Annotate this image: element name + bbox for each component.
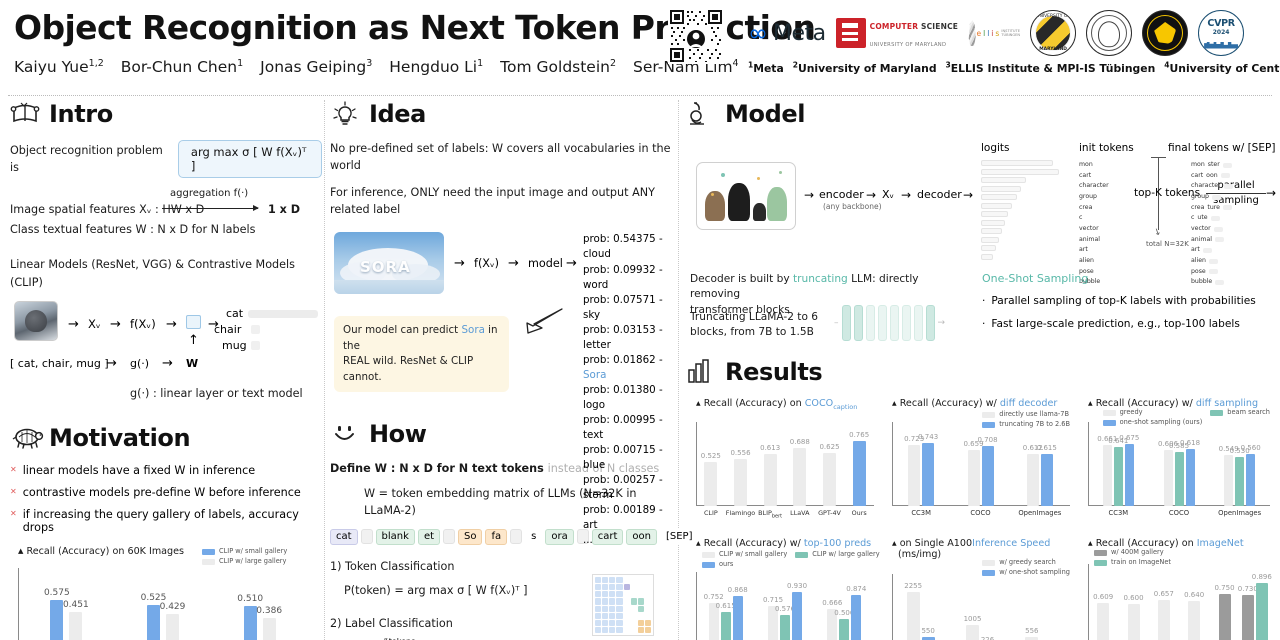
- mask-cell: [616, 613, 622, 619]
- mask-cell: [631, 627, 637, 633]
- prediction-row: prob: 0.07571 - sky: [583, 293, 672, 323]
- mask-cell: [602, 577, 608, 583]
- init-token: vector: [1079, 224, 1109, 235]
- mask-cell: [616, 620, 622, 626]
- mask-cell: [638, 613, 644, 619]
- legend-item: CLIP w/ large gallery: [202, 557, 287, 567]
- meta-logo: ∞ Meta: [748, 9, 826, 57]
- legend-label: greedy: [1120, 408, 1143, 418]
- chart-bar: 2255: [907, 592, 920, 640]
- section-header-intro: Intro: [10, 100, 322, 128]
- final-token-a: cart: [1191, 171, 1203, 182]
- model-total-label: total N=32K: [1146, 240, 1189, 248]
- motivation-bullet: ✕linear models have a fixed W in inferen…: [10, 464, 322, 477]
- oneshot-bullet: ·Fast large-scale prediction, e.g., top-…: [982, 318, 1256, 330]
- mask-cell: [645, 606, 651, 612]
- model-backbone-note: (any backbone): [823, 202, 882, 211]
- final-token-a: mon: [1191, 160, 1205, 171]
- attention-mask-figure: non-causal attention mask in transformer: [592, 574, 672, 640]
- bar-group: 0.5250.429COCO: [147, 605, 179, 640]
- arrow-icon: →: [1266, 186, 1276, 200]
- init-token: crea: [1079, 203, 1109, 214]
- final-token-a: vector: [1191, 224, 1211, 235]
- init-token: animal: [1079, 235, 1109, 246]
- chart-bar: 0.525: [704, 462, 717, 506]
- bar-group: 0.625GPT-4V: [823, 453, 836, 506]
- bar-value-label: 0.386: [256, 606, 282, 616]
- logit-bar: [981, 228, 1002, 234]
- bar-value-label: 0.765: [849, 431, 869, 439]
- bar-group: 0.6660.5060.874OpenImages: [827, 595, 861, 640]
- bar-group: 0.600Flamingo: [1128, 604, 1140, 640]
- bar-value-label: 550: [921, 627, 934, 635]
- mask-cell: [638, 606, 644, 612]
- mask-cell: [645, 620, 651, 626]
- token-pill-icon: [1224, 184, 1233, 189]
- affiliation-item: 3ELLIS Institute & MPI-IS Tübingen: [946, 62, 1156, 75]
- logit-bar: [981, 186, 1021, 192]
- x-axis-label: COCO: [970, 509, 990, 517]
- mask-cell: [638, 620, 644, 626]
- mask-cell: [616, 577, 622, 583]
- chart-bar: 0.708: [982, 446, 994, 506]
- bar-value-label: 0.708: [977, 436, 997, 444]
- monsters-image: [696, 162, 796, 230]
- bar-value-label: 0.896: [1252, 573, 1272, 581]
- token-pill-icon: [1221, 173, 1230, 178]
- bullet-dot-icon: ✕: [10, 464, 17, 477]
- mask-cell: [609, 613, 615, 619]
- legend-label: ours: [719, 560, 733, 570]
- bar-group: 0.556Flamingo: [734, 459, 747, 506]
- section-title-how: How: [369, 420, 427, 448]
- y-axis-arrow-icon: ▲: [696, 540, 701, 547]
- logit-bar: [981, 160, 1053, 166]
- chart-title-highlight: Inference Speed: [972, 538, 1050, 549]
- legend-item: greedy: [1103, 408, 1203, 418]
- chart-imagenet: ▲ Recall (Accuracy) on ImageNetw/ 400M g…: [1080, 538, 1276, 640]
- idea-line1-a: No pre-defined set of labels: [330, 142, 485, 155]
- arrow-icon: →: [166, 317, 177, 332]
- y-axis-arrow-icon: ▲: [18, 547, 23, 555]
- y-axis-arrow-icon: ▲: [696, 400, 701, 407]
- affiliation-list: 1Meta2University of Maryland3ELLIS Insti…: [748, 60, 1278, 75]
- prediction-prob: prob: 0.54375: [583, 233, 656, 245]
- mask-cell: [645, 591, 651, 597]
- bar-group: 0.609CLIP: [1097, 603, 1109, 640]
- affiliation-item: 1Meta: [748, 62, 784, 75]
- mask-cell: [616, 627, 622, 633]
- bullet-dot-icon: ✕: [10, 508, 17, 521]
- chart-plot-area: 0.609CLIP0.600Flamingo0.657BLIPbert0.640…: [1088, 564, 1270, 640]
- section-title-model: Model: [725, 100, 805, 128]
- token-chip: et: [418, 529, 440, 545]
- final-token-b: ture: [1207, 203, 1220, 214]
- chart-bar: 0.600: [1128, 604, 1140, 640]
- chart-title-motivation: Recall (Accuracy) on 60K Images: [26, 546, 184, 557]
- token-chip: So: [458, 529, 482, 545]
- chart-bar: 0.765: [853, 441, 866, 506]
- mask-cell: [595, 598, 601, 604]
- poster-root: Object Recognition as Next Token Predict…: [0, 0, 1280, 640]
- prediction-label: blue: [583, 459, 605, 471]
- legend-swatch: [1103, 410, 1116, 416]
- affiliation-item: 2University of Maryland: [793, 62, 937, 75]
- how-step1-label: 1) Token Classification: [330, 558, 672, 575]
- model-final-tokens-label: final tokens w/ [SEP]: [1168, 142, 1275, 154]
- final-token-b: ster: [1208, 160, 1220, 171]
- prediction-label: sky: [583, 309, 600, 321]
- mask-cell: [645, 598, 651, 604]
- intro-models-line: Linear Models (ResNet, VGG) & Contrastiv…: [10, 256, 322, 291]
- attention-mask-grid: [592, 574, 654, 636]
- y-axis-arrow-icon: ▲: [1088, 400, 1093, 407]
- y-axis-arrow-icon: ▲: [892, 540, 897, 547]
- init-token: c: [1079, 213, 1109, 224]
- bullet-dot-icon: ·: [982, 318, 985, 330]
- final-token-b: ute: [1197, 213, 1207, 224]
- bar-group: 0.6590.708COCO: [968, 446, 994, 506]
- logit-bar: [981, 220, 1005, 226]
- section-title-results: Results: [725, 358, 822, 386]
- chart-title-text: Recall (Accuracy) on: [704, 398, 805, 409]
- x-axis-label: GPT-4V: [818, 509, 841, 517]
- smiley-icon: [330, 420, 360, 448]
- bar-group: 0.7230.743CC3M: [908, 443, 934, 506]
- logo-strip: ∞ Meta COMPUTER SCIENCE UNIVERSITY OF MA…: [748, 6, 1276, 60]
- bar-value-label: 0.930: [787, 582, 807, 590]
- intro-input-list: [ cat, chair, mug ]: [10, 357, 109, 370]
- mask-cell: [595, 620, 601, 626]
- chart-top100-preds: ▲ Recall (Accuracy) w/ top-100 predsCLIP…: [688, 538, 880, 640]
- chart-bar: 0.560: [1246, 454, 1255, 506]
- prediction-row: ...: [583, 533, 672, 548]
- mask-cell: [616, 598, 622, 604]
- legend-item: CLIP w/ small gallery: [702, 550, 787, 560]
- intro-spatial-output: 1 x D: [268, 201, 300, 218]
- final-token-a: animal: [1191, 235, 1212, 246]
- how-eq2-superscript: #tokens: [382, 637, 415, 640]
- arrow-icon: →: [963, 188, 973, 202]
- class-label-chair: chair: [214, 323, 241, 336]
- section-title-motivation: Motivation: [49, 424, 190, 452]
- init-tokens-list: moncartcharactergroupcreacvectoranimalar…: [1079, 160, 1109, 288]
- intro-aggregation-label: aggregation f(·): [170, 188, 248, 199]
- model-encoder-label: encoder: [819, 188, 864, 201]
- up-arrow-icon: ↑: [188, 333, 199, 348]
- legend-label: CLIP w/ large gallery: [812, 550, 879, 560]
- chart-diff-sampling: ▲ Recall (Accuracy) w/ diff samplinggree…: [1080, 398, 1276, 526]
- mask-cell: [645, 627, 651, 633]
- logits-bars: [981, 160, 1067, 262]
- bar-value-label: 0.609: [1093, 593, 1113, 601]
- init-token: alien: [1079, 256, 1109, 267]
- mask-cell: [638, 627, 644, 633]
- legend-swatch: [982, 412, 995, 418]
- bar-group: 0.7520.6150.868CC3M: [709, 596, 743, 640]
- column-right: Model → encoder (any backbone) → Xᵥ → de…: [686, 100, 1276, 640]
- prediction-label: Sora: [583, 369, 606, 381]
- bar-group: 0.613BLIPbert: [764, 454, 777, 506]
- chart-plot-area: 0.6610.6410.675CC3M0.6060.5850.618COCO0.…: [1088, 422, 1270, 506]
- token-pill-icon: [1223, 205, 1232, 210]
- final-token-a: alien: [1191, 256, 1206, 267]
- final-token-row: group: [1191, 192, 1233, 203]
- bar-group: 0.5750.451CC3M: [50, 600, 82, 640]
- x-axis: [696, 505, 874, 506]
- chart-bar: 0.640: [1188, 601, 1200, 640]
- column-divider-1: [324, 100, 325, 640]
- arrow-icon: →: [110, 317, 121, 332]
- model-truncate-line2: blocks, from 7B to 1.5B: [690, 325, 820, 340]
- model-logits-label: logits: [981, 142, 1010, 154]
- affiliation-item: 4University of Central Florida: [1164, 62, 1280, 75]
- logit-bar: [981, 169, 1059, 175]
- chart-bar: 0.730: [1242, 595, 1254, 640]
- bar-group: 0.750CaSED: [1219, 594, 1231, 640]
- mask-cell: [624, 584, 630, 590]
- final-token-row: animal: [1191, 235, 1233, 246]
- bar-value-label: 556: [1025, 627, 1038, 635]
- umd-cs-line1a: COMPUTER: [870, 22, 919, 31]
- final-token-row: character: [1191, 181, 1233, 192]
- prediction-row: prob: 0.00995 - text: [583, 413, 672, 443]
- chart-bar: 0.743: [922, 443, 934, 506]
- chart-bar: 0.750: [1219, 594, 1231, 640]
- idea-prediction-list: prob: 0.54375 - cloudprob: 0.09932 - wor…: [583, 232, 672, 548]
- legend-label: beam search: [1227, 408, 1270, 418]
- section-header-results: Results: [686, 358, 1276, 386]
- idea-flow-fxv: f(Xᵥ): [474, 257, 499, 270]
- chart-bar: 0.615: [1041, 454, 1053, 506]
- prediction-prob: prob: 0.01862: [583, 354, 656, 366]
- mask-cell: [624, 591, 630, 597]
- arrow-icon: →: [508, 256, 519, 271]
- microscope-icon: [686, 100, 716, 128]
- mask-cell: [616, 606, 622, 612]
- bullet-text: Parallel sampling of top-K labels with p…: [991, 295, 1255, 307]
- mask-cell: [631, 584, 637, 590]
- chart-diff-decoder: ▲ Recall (Accuracy) w/ diff decoderdirec…: [884, 398, 1076, 526]
- ellis-logo: ellis INSTITUTE TÜBINGEN: [968, 9, 1020, 57]
- logit-bar: [981, 245, 996, 251]
- arrow-icon: →: [68, 317, 79, 332]
- token-chip: [361, 529, 373, 544]
- model-oneshot-heading: One-Shot Sampling: [982, 272, 1256, 285]
- bar-value-label: 0.525: [701, 452, 721, 460]
- chart-title-highlight: top-100 preds: [804, 538, 871, 549]
- mask-cell: [645, 577, 651, 583]
- bar-value-label: 0.618: [1180, 439, 1200, 447]
- mask-cell: [631, 598, 637, 604]
- chart-title-subscript: caption: [833, 403, 857, 411]
- token-pill-icon: [1223, 163, 1232, 168]
- mask-cell: [609, 606, 615, 612]
- author-name: Hengduo Li1: [389, 58, 483, 76]
- x-axis-label: CC3M: [911, 509, 931, 517]
- bar-value-label: 0.613: [760, 444, 780, 452]
- legend-label: w/ greedy search: [999, 558, 1056, 568]
- final-token-row: cute: [1191, 213, 1233, 224]
- chart-title: ▲ Recall (Accuracy) w/ diff decoder: [892, 398, 1057, 409]
- bar-group: 0.7150.5760.930COCO: [768, 592, 802, 640]
- mask-cell: [638, 577, 644, 583]
- final-token-row: monster: [1191, 160, 1233, 171]
- legend-swatch: [202, 549, 215, 555]
- chart-bar: 0.575: [50, 600, 63, 640]
- arrow-icon: →: [804, 188, 814, 202]
- intro-spatial-features: Image spatial features Xᵥ : HW x D: [10, 201, 204, 218]
- chart-title: ▲ Recall (Accuracy) on COCOcaption: [696, 398, 857, 411]
- intro-w-symbol: W: [186, 357, 198, 370]
- bar-value-label: 0.575: [44, 588, 70, 598]
- chart-bar: 0.657: [1158, 600, 1170, 640]
- cvpr-year: 2024: [1213, 29, 1230, 36]
- bar-value-label: 0.615: [1037, 444, 1057, 452]
- intro-g-note: g(·) : linear layer or text model: [130, 385, 322, 402]
- mask-cell: [638, 598, 644, 604]
- mask-cell: [602, 584, 608, 590]
- idea-note-box: Our model can predict Sora in the REAL w…: [334, 316, 509, 392]
- intro-textual-features: Class textual features W : N x D for N l…: [10, 221, 322, 238]
- bar-value-label: 0.510: [237, 594, 263, 604]
- y-axis: [1088, 564, 1089, 640]
- bullet-dot-icon: ✕: [10, 486, 17, 499]
- legend-swatch: [795, 552, 808, 558]
- token-chip: s: [525, 529, 542, 545]
- x-axis-label: Flamingo: [726, 509, 755, 517]
- bar-group: 0.525CLIP: [704, 462, 717, 506]
- token-pill-icon: [1203, 248, 1212, 253]
- column-left: Intro Object recognition problem is arg …: [10, 100, 322, 640]
- lightbulb-icon: [330, 100, 360, 128]
- final-token-a: group: [1191, 192, 1209, 203]
- idea-note-a: Our model can predict: [343, 324, 462, 336]
- chart-inference-speed: ▲ on Single A100Inference Speed(ms/img)w…: [884, 538, 1076, 640]
- column-middle: Idea No pre-defined set of labels: W cov…: [330, 100, 672, 640]
- logit-bar: [981, 254, 993, 260]
- chart-bar: 0.723: [908, 445, 920, 506]
- chart-bar: 0.688: [793, 448, 806, 506]
- chart-legend-motivation: CLIP w/ small galleryCLIP w/ large galle…: [202, 547, 287, 567]
- legend-label: directly use llama-7B: [999, 410, 1069, 420]
- chart-bar: 0.930: [792, 592, 802, 640]
- qr-code-icon[interactable]: [668, 8, 724, 64]
- mask-cell: [595, 613, 601, 619]
- bar-value-label: 0.556: [730, 449, 750, 457]
- chart-bar: 0.609: [1097, 603, 1109, 640]
- chart-title: ▲ Recall (Accuracy) w/ top-100 preds: [696, 538, 871, 549]
- intro-g-function: g(·): [130, 357, 149, 370]
- ucf-seal-logo: [1142, 9, 1188, 57]
- y-axis: [892, 422, 893, 506]
- prediction-row: prob: 0.00257 - storm: [583, 473, 672, 503]
- umd-seal-logo: UNIVERSITY OF MARYLAND: [1030, 9, 1076, 57]
- umd-cs-line2: UNIVERSITY OF MARYLAND: [870, 42, 947, 48]
- bar-value-label: 0.688: [790, 438, 810, 446]
- mask-cell: [609, 627, 615, 633]
- bar-value-label: 0.640: [1184, 591, 1204, 599]
- header-divider: [8, 95, 1272, 96]
- chart-bar: 0.386: [263, 618, 276, 640]
- chart-title-highlight: ImageNet: [1197, 538, 1244, 549]
- mask-cell: [624, 598, 630, 604]
- umd-cs-mark-icon: [836, 18, 866, 48]
- mask-cell: [645, 584, 651, 590]
- legend-label: w/ 400M gallery: [1111, 548, 1164, 558]
- mask-cell: [609, 591, 615, 597]
- chart-bar: 0.618: [1186, 449, 1195, 506]
- x-axis-label: BLIPbert: [758, 509, 782, 519]
- chart-bar: 0.874: [851, 595, 861, 640]
- chart-bar: 0.612: [1027, 454, 1039, 506]
- bar-group: 10052263.00B: [966, 625, 994, 640]
- prediction-prob: prob: 0.00715: [583, 444, 656, 456]
- model-decoder-note-a: Decoder is built by: [690, 273, 793, 285]
- mask-cell: [595, 591, 601, 597]
- intro-equation: arg max σ [ W f(Xᵥ)ᵀ ]: [178, 140, 322, 178]
- prediction-prob: prob: 0.00995: [583, 414, 656, 426]
- chart-bar: 0.585: [1175, 452, 1184, 506]
- model-truncate-line1: Truncating LLaMA-2 to 6: [690, 310, 820, 325]
- chart-bar: 0.606: [1164, 450, 1173, 506]
- bullet-text: contrastive models pre-define W before i…: [23, 486, 301, 499]
- prediction-row: prob: 0.01862 - Sora: [583, 353, 672, 383]
- mask-cell: [602, 591, 608, 597]
- bar-value-label: 0.715: [763, 596, 783, 604]
- prediction-row: prob: 0.03153 - letter: [583, 323, 672, 353]
- intro-flow-xv: Xᵥ: [88, 317, 101, 331]
- final-token-a: c: [1191, 213, 1194, 224]
- chart-title: ▲ on Single A100Inference Speed(ms/img): [892, 538, 1050, 560]
- token-pill-icon: [1215, 237, 1224, 242]
- bar-group: 0.6120.615OpenImages: [1027, 454, 1053, 506]
- mask-cell: [609, 584, 615, 590]
- meta-infinity-icon: ∞: [748, 21, 768, 45]
- chart-coco-caption: ▲ Recall (Accuracy) on COCOcaption0.525C…: [688, 398, 880, 526]
- mask-cell: [602, 606, 608, 612]
- prediction-label: word: [583, 279, 608, 291]
- intro-problem-text: Object recognition problem is: [10, 142, 168, 177]
- bar-value-label: 0.868: [728, 586, 748, 594]
- logit-bar: [981, 194, 1017, 200]
- token-chip: [443, 529, 455, 544]
- bar-value-label: 0.730: [1238, 585, 1258, 593]
- oneshot-bullet: ·Parallel sampling of top-K labels with …: [982, 295, 1256, 307]
- bullet-text: linear models have a fixed W in inferenc…: [23, 464, 255, 477]
- umd-seal-top-text: UNIVERSITY OF: [1031, 14, 1075, 19]
- chart-motivation-60k: ▲ Recall (Accuracy) on 60K Images CLIP w…: [10, 546, 310, 640]
- chart-legend: CLIP w/ small galleryCLIP w/ large galle…: [702, 550, 880, 570]
- logit-bar: [981, 237, 999, 243]
- prediction-row: prob: 0.00189 - art: [583, 503, 672, 533]
- mask-cell: [602, 598, 608, 604]
- prediction-label: cloud: [583, 248, 611, 260]
- arrow-icon: →: [866, 188, 876, 202]
- legend-swatch: [202, 559, 215, 565]
- token-pill-icon: [1211, 216, 1220, 221]
- poster-header: Object Recognition as Next Token Predict…: [0, 0, 1280, 96]
- bar-group: 0.6610.6410.675CC3M: [1103, 444, 1134, 506]
- idea-line2: For inference, ONLY need the input image…: [330, 184, 672, 219]
- x-axis-label: LLaVA: [790, 509, 809, 517]
- mask-cell: [631, 606, 637, 612]
- book-icon: [10, 100, 40, 128]
- ellis-wordmark: ellis: [976, 29, 1001, 38]
- model-xv-label: Xᵥ: [882, 188, 894, 201]
- final-token-row: art: [1191, 245, 1233, 256]
- init-token: character: [1079, 181, 1109, 192]
